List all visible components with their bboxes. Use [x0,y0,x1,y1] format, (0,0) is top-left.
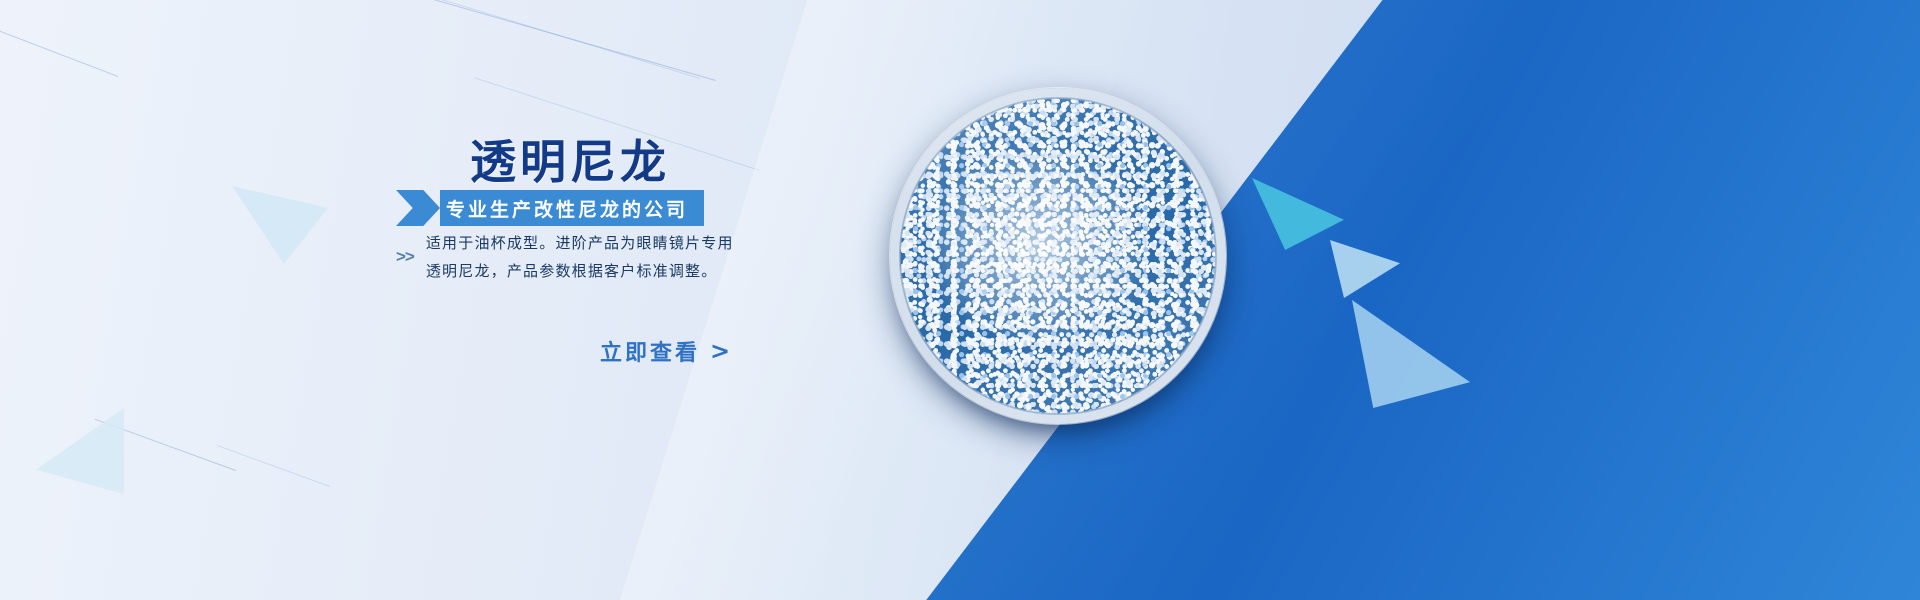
product-image [890,88,1230,428]
view-now-button[interactable]: 立即查看 > [600,335,730,367]
hero-banner: 透明尼龙 专业生产改性尼龙的公司 >> 适用于油杯成型。进阶产品为眼睛镜片专用 … [0,0,1920,600]
cta-label: 立即查看 [600,335,700,367]
description-block: >> 适用于油杯成型。进阶产品为眼睛镜片专用 透明尼龙，产品参数根据客户标准调整… [396,232,734,281]
dish-interior [900,98,1216,414]
chevron-right-icon [396,190,440,226]
double-chevron-icon: >> [396,247,414,267]
tagline-text: 专业生产改性尼龙的公司 [446,195,688,222]
ribbon-body: 专业生产改性尼龙的公司 [440,190,704,226]
tagline-ribbon: 专业生产改性尼龙的公司 [396,190,704,226]
arrow-right-icon: > [710,339,730,363]
pellets-highlight [900,98,1216,414]
page-title: 透明尼龙 [470,126,670,192]
banner-content: 透明尼龙 专业生产改性尼龙的公司 >> 适用于油杯成型。进阶产品为眼睛镜片专用 … [0,0,900,600]
description-line-1: 适用于油杯成型。进阶产品为眼睛镜片专用 [426,232,734,253]
description-line-2: 透明尼龙，产品参数根据客户标准调整。 [426,260,734,281]
description-lines: 适用于油杯成型。进阶产品为眼睛镜片专用 透明尼龙，产品参数根据客户标准调整。 [426,232,734,281]
petri-dish [890,88,1226,424]
